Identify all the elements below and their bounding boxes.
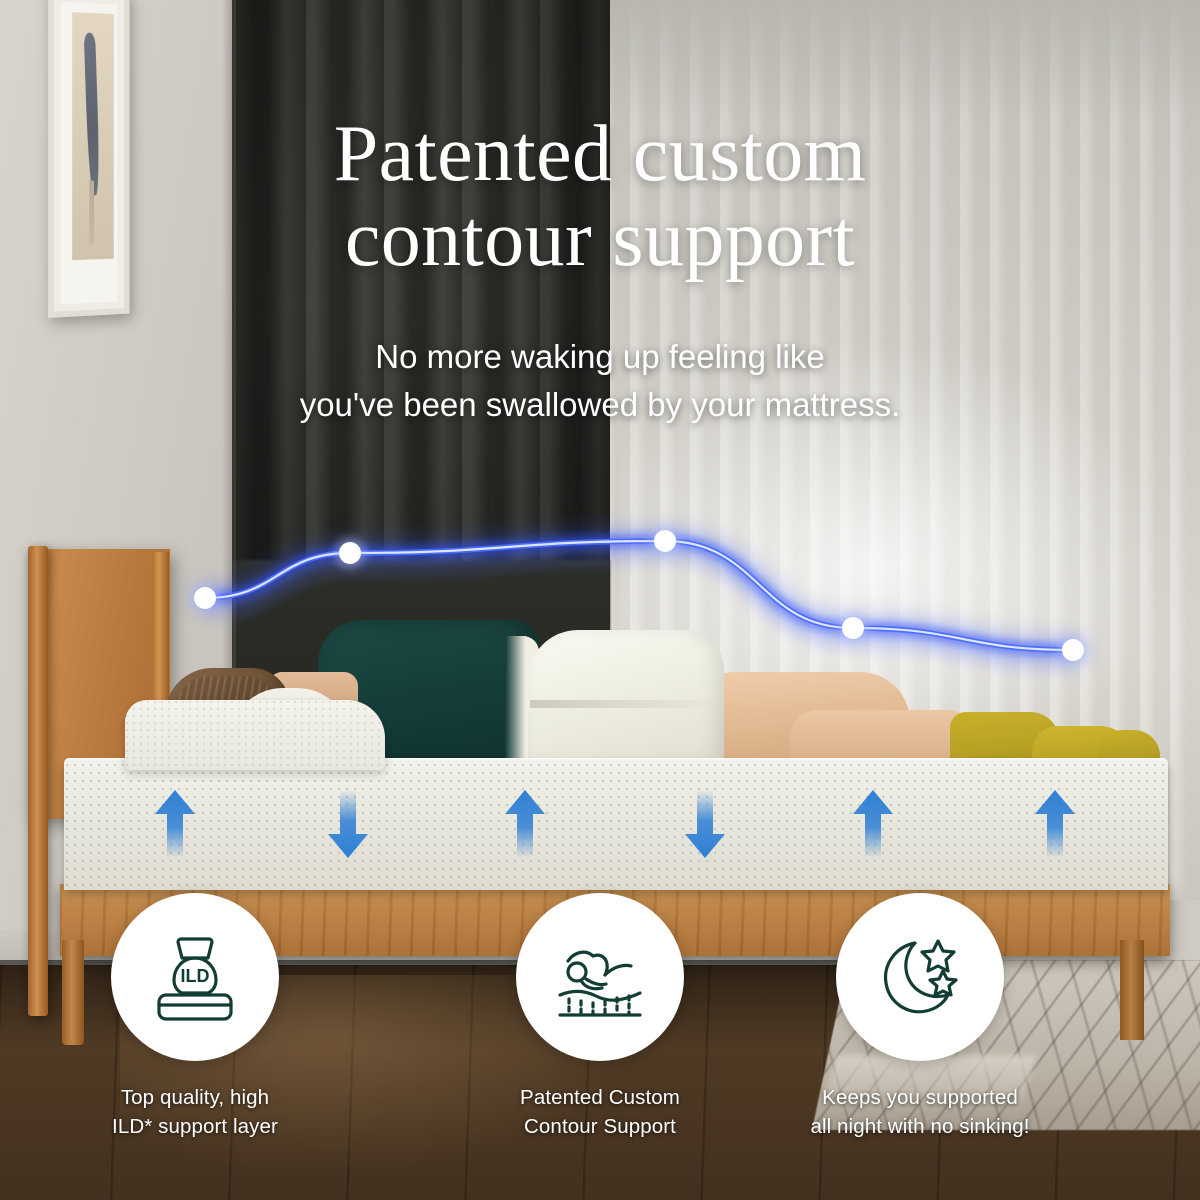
support-arrow-up xyxy=(852,788,894,860)
support-arrow-up xyxy=(504,788,546,860)
support-arrow-up xyxy=(154,788,196,860)
person-sleeping-on-support-layer-icon xyxy=(548,925,652,1029)
ild-weight-on-mattress-icon: ILD xyxy=(143,925,247,1029)
feature-row: ILD Top quality, high ILD* support layer xyxy=(0,893,1200,1193)
feature-ild[interactable]: ILD Top quality, high ILD* support layer xyxy=(35,893,355,1141)
support-arrow-up xyxy=(1034,788,1076,860)
spine-node-dot xyxy=(654,530,676,552)
mattress xyxy=(64,762,1168,890)
crescent-moon-and-stars-icon xyxy=(868,925,972,1029)
spine-alignment-curve xyxy=(0,480,1200,710)
feature-icon-circle: ILD xyxy=(111,893,279,1061)
contour-pillow xyxy=(125,700,385,770)
feature-label: Keeps you supported all night with no si… xyxy=(760,1083,1080,1141)
feature-icon-circle xyxy=(836,893,1004,1061)
spine-node-dot xyxy=(339,542,361,564)
feature-label: Patented Custom Contour Support xyxy=(440,1083,760,1141)
feature-icon-circle xyxy=(516,893,684,1061)
support-arrow-down xyxy=(327,788,369,860)
spine-node-dot xyxy=(194,587,216,609)
right-wall-shadow xyxy=(600,0,1200,120)
page-title: Patented custom contour support xyxy=(0,112,1200,282)
support-arrow-down xyxy=(684,788,726,860)
product-marketing-image: ILD Top quality, high ILD* support layer xyxy=(0,0,1200,1200)
feature-no-sinking[interactable]: Keeps you supported all night with no si… xyxy=(760,893,1080,1141)
spine-node-dot xyxy=(842,617,864,639)
feature-contour-support[interactable]: Patented Custom Contour Support xyxy=(440,893,760,1141)
feature-label: Top quality, high ILD* support layer xyxy=(35,1083,355,1141)
spine-node-dot xyxy=(1062,639,1084,661)
ild-icon-text: ILD xyxy=(181,966,210,986)
page-subtitle: No more waking up feeling like you've be… xyxy=(0,333,1200,428)
